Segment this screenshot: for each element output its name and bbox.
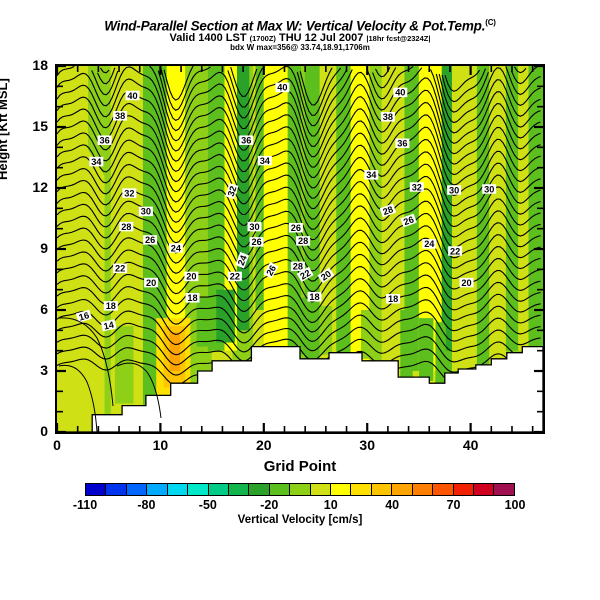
- contour-label: 32: [122, 188, 136, 198]
- contour-label: 22: [448, 246, 462, 256]
- contour-label: 40: [393, 88, 407, 98]
- y-axis-tick-label: 0: [0, 423, 48, 439]
- colorbar-tick-label: 70: [447, 498, 461, 512]
- contour-label-text: 22: [230, 272, 240, 282]
- x-axis-tick-label: 20: [256, 437, 272, 453]
- contour-label-text: 18: [388, 294, 398, 304]
- contour-label-text: 30: [449, 185, 459, 195]
- colorbar-tick-label: 40: [385, 498, 399, 512]
- colorbar-segment: [311, 484, 331, 495]
- chart-annotation: bdx W max=356@ 33.74,18.91,1706m: [0, 43, 600, 52]
- colorbar-segment: [351, 484, 371, 495]
- contour-label: 34: [89, 157, 103, 167]
- colorbar-tick-label: -20: [260, 498, 278, 512]
- contour-label: 34: [258, 156, 272, 166]
- contour-label: 30: [248, 222, 262, 232]
- contour-label-text: 28: [121, 222, 131, 232]
- colorbar: [85, 483, 515, 496]
- colorbar-segment: [249, 484, 269, 495]
- contour-label: 34: [364, 170, 378, 180]
- contour-label-text: 36: [241, 136, 251, 146]
- colorbar-segment: [168, 484, 188, 495]
- contour-label: 24: [422, 239, 436, 249]
- updraft-lane: [518, 66, 528, 351]
- contour-label-text: 22: [115, 264, 125, 274]
- x-axis-tick-label: 40: [463, 437, 479, 453]
- contour-label: 40: [275, 83, 289, 93]
- updraft-lane: [264, 66, 288, 351]
- contour-label: 20: [144, 278, 158, 288]
- contour-label: 30: [447, 185, 461, 195]
- colorbar-segment: [229, 484, 249, 495]
- low-level-patch: [197, 298, 215, 347]
- colorbar-segment: [494, 484, 513, 495]
- contour-label-text: 36: [397, 139, 407, 149]
- contour-label: 26: [250, 237, 264, 247]
- y-axis-tick-label: 18: [0, 57, 48, 73]
- contour-label-text: 32: [124, 188, 134, 198]
- contour-label-text: 26: [291, 223, 301, 233]
- y-axis-tick-label: 6: [0, 301, 48, 317]
- colorbar-segment: [290, 484, 310, 495]
- figure-canvas: Wind-Parallel Section at Max W: Vertical…: [0, 0, 600, 600]
- contour-label: 28: [296, 236, 310, 246]
- x-axis-tick-label: 0: [53, 437, 61, 453]
- contour-label-text: 34: [366, 170, 377, 180]
- colorbar-segment: [270, 484, 290, 495]
- contour-label: 40: [126, 91, 140, 101]
- subtitle-utc: (1700Z): [250, 34, 276, 43]
- colorbar-segment: [433, 484, 453, 495]
- contour-label: 18: [308, 292, 322, 302]
- contour-label-text: 20: [146, 278, 156, 288]
- y-axis-tick-label: 15: [0, 118, 48, 134]
- colorbar-segment: [372, 484, 392, 495]
- contour-label-text: 40: [277, 83, 287, 93]
- contour-label: 26: [289, 223, 303, 233]
- contour-label-text: 22: [450, 246, 460, 256]
- contour-label-text: 38: [383, 112, 393, 122]
- y-axis-tick-label: 3: [0, 362, 48, 378]
- contour-label-text: 28: [293, 262, 303, 272]
- contour-label: 32: [410, 182, 424, 192]
- contour-label: 38: [113, 111, 127, 121]
- contour-label-text: 24: [171, 243, 182, 253]
- colorbar-segment: [188, 484, 208, 495]
- colorbar-segment: [454, 484, 474, 495]
- contour-label: 22: [113, 264, 127, 274]
- y-axis-tick-label: 9: [0, 240, 48, 256]
- plot-area: 4038363432302826242220181614363432302624…: [55, 64, 545, 434]
- colorbar-segment: [147, 484, 167, 495]
- contour-label-text: 30: [141, 207, 151, 217]
- contour-field: 4038363432302826242220181614363432302624…: [57, 66, 543, 432]
- x-axis-tick-label: 30: [359, 437, 375, 453]
- contour-label-text: 24: [424, 239, 435, 249]
- contour-label-text: 34: [260, 156, 271, 166]
- contour-label-text: 28: [298, 236, 308, 246]
- colorbar-tick-label: -80: [137, 498, 155, 512]
- upper-left-wedge: [57, 127, 105, 432]
- contour-label: 18: [104, 301, 118, 311]
- contour-label-text: 18: [187, 293, 197, 303]
- colorbar-tick-label: 100: [505, 498, 526, 512]
- colorbar-segment: [474, 484, 494, 495]
- contour-label-text: 20: [186, 272, 196, 282]
- contour-label-text: 18: [106, 301, 116, 311]
- colorbar-tick-label: 10: [324, 498, 338, 512]
- contour-label-text: 36: [99, 136, 109, 146]
- contour-label: 38: [381, 112, 395, 122]
- contour-label-text: 26: [251, 237, 261, 247]
- contour-label-text: 20: [461, 278, 471, 288]
- contour-label: 28: [119, 222, 133, 232]
- contour-label-text: 40: [127, 91, 137, 101]
- subtitle-forecast-tag: |18hr fcst@2324Z|: [366, 34, 430, 43]
- contour-label: 36: [239, 135, 253, 145]
- contour-label: 24: [169, 243, 183, 253]
- contour-label-text: 30: [484, 184, 494, 194]
- contour-label: 18: [186, 293, 200, 303]
- contour-label-text: 34: [91, 157, 102, 167]
- contour-label-text: 26: [145, 235, 155, 245]
- contour-label-text: 18: [309, 292, 319, 302]
- contour-label-text: 38: [115, 111, 125, 121]
- contour-label: 36: [98, 135, 112, 145]
- plot-inner: 4038363432302826242220181614363432302624…: [57, 66, 543, 432]
- colorbar-tick-label: -110: [73, 498, 97, 512]
- x-axis-label: Grid Point: [0, 458, 600, 475]
- contour-label: 20: [460, 278, 474, 288]
- colorbar-segment: [331, 484, 351, 495]
- chart-title-superscript: (C): [485, 18, 496, 27]
- downdraft-band: [237, 66, 249, 330]
- colorbar-segment: [106, 484, 126, 495]
- contour-label: 26: [143, 235, 157, 245]
- contour-label-text: 32: [412, 182, 422, 192]
- colorbar-segment: [392, 484, 412, 495]
- contour-label: 30: [482, 184, 496, 194]
- y-axis-tick-label: 12: [0, 179, 48, 195]
- colorbar-label: Vertical Velocity [cm/s]: [0, 514, 600, 526]
- contour-label: 20: [184, 272, 198, 282]
- x-axis-tick-label: 10: [153, 437, 169, 453]
- low-level-patch: [115, 326, 134, 403]
- colorbar-segment: [209, 484, 229, 495]
- colorbar-tick-label: -50: [199, 498, 217, 512]
- colorbar-segment: [86, 484, 106, 495]
- contour-label-text: 40: [395, 88, 405, 98]
- contour-label-text: 30: [249, 222, 259, 232]
- contour-label: 36: [395, 139, 409, 149]
- colorbar-segment: [127, 484, 147, 495]
- contour-label: 30: [139, 207, 153, 217]
- colorbar-segment: [413, 484, 433, 495]
- contour-label: 28: [291, 262, 305, 272]
- contour-label: 22: [228, 272, 242, 282]
- contour-label: 18: [386, 294, 400, 304]
